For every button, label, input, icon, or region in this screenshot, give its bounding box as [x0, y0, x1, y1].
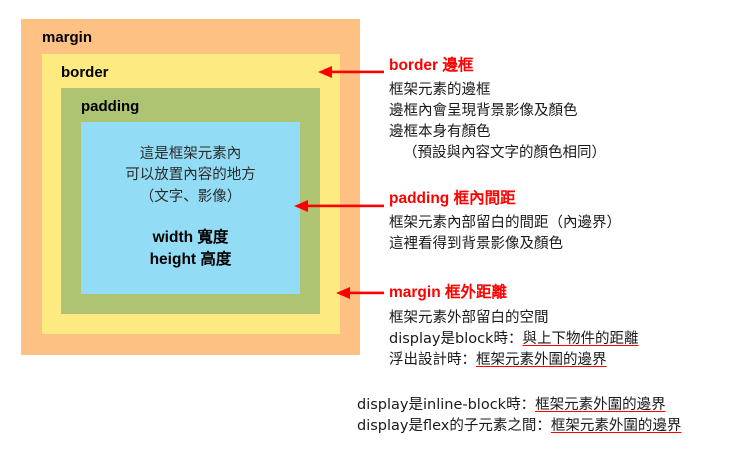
annotation-border: border 邊框 框架元素的邊框 邊框內會呈現背景影像及顏色 邊框本身有顏色 … — [389, 57, 606, 164]
annotation-margin-line-2: display是block時：與上下物件的距離 — [389, 329, 638, 350]
annotation-padding-body: 框架元素內部留白的間距（內邊界） 這裡看得到背景影像及顏色 — [389, 213, 621, 255]
annotation-extra-line-1-prefix: display是inline-block時： — [357, 397, 535, 413]
annotation-margin-line-3-prefix: 浮出設計時： — [389, 352, 476, 368]
annotation-border-title: border 邊框 — [389, 57, 606, 75]
annotation-border-line-2: 邊框內會呈現背景影像及顏色 — [389, 101, 606, 122]
annotation-extra-line-1: display是inline-block時：框架元素外圍的邊界 — [357, 395, 681, 416]
annotation-margin-title: margin 框外距離 — [389, 284, 638, 302]
annotation-margin-extra: display是inline-block時：框架元素外圍的邊界 display是… — [357, 395, 681, 437]
annotation-padding: padding 框內間距 框架元素內部留白的間距（內邊界） 這裡看得到背景影像及… — [389, 190, 621, 255]
annotation-extra-line-1-emphasis: 框架元素外圍的邊界 — [535, 397, 666, 413]
annotation-margin-line-2-prefix: display是block時： — [389, 331, 522, 347]
annotation-border-line-3: 邊框本身有顏色 — [389, 122, 606, 143]
annotation-padding-line-2: 這裡看得到背景影像及顏色 — [389, 234, 621, 255]
content-description-line-3: （文字、影像） — [81, 187, 300, 208]
padding-box: padding 這是框架元素內 可以放置內容的地方 （文字、影像） width … — [61, 88, 320, 314]
content-height-label: height 高度 — [81, 249, 300, 271]
annotation-extra-line-2-prefix: display是flex的子元素之間： — [357, 418, 551, 434]
box-model-diagram: margin border padding 這是框架元素內 可以放置內容的地方 … — [21, 19, 360, 355]
content-description-line-2: 可以放置內容的地方 — [81, 165, 300, 186]
annotation-border-body: 框架元素的邊框 邊框內會呈現背景影像及顏色 邊框本身有顏色 （預設與內容文字的顏… — [389, 80, 606, 164]
annotation-extra-line-2: display是flex的子元素之間：框架元素外圍的邊界 — [357, 416, 681, 437]
content-box-description: 這是框架元素內 可以放置內容的地方 （文字、影像） — [81, 144, 300, 208]
padding-box-label: padding — [81, 99, 139, 114]
annotation-margin-line-3-emphasis: 框架元素外圍的邊界 — [476, 352, 607, 368]
content-box-dimensions: width 寬度 height 高度 — [81, 227, 300, 271]
annotation-margin-line-2-emphasis: 與上下物件的距離 — [522, 331, 638, 347]
content-box: 這是框架元素內 可以放置內容的地方 （文字、影像） width 寬度 heigh… — [81, 122, 300, 294]
border-arrow-left-icon — [318, 65, 384, 79]
margin-box-label: margin — [42, 30, 92, 45]
annotation-margin-body: 框架元素外部留白的空間 display是block時：與上下物件的距離 浮出設計… — [389, 308, 638, 371]
annotation-border-line-4: （預設與內容文字的顏色相同） — [389, 143, 606, 164]
annotation-extra-line-2-emphasis: 框架元素外圍的邊界 — [551, 418, 682, 434]
content-description-line-1: 這是框架元素內 — [81, 144, 300, 165]
annotation-margin: margin 框外距離 框架元素外部留白的空間 display是block時：與… — [389, 284, 638, 371]
annotation-margin-line-3: 浮出設計時：框架元素外圍的邊界 — [389, 350, 638, 371]
annotation-border-line-1: 框架元素的邊框 — [389, 80, 606, 101]
annotation-padding-title: padding 框內間距 — [389, 190, 621, 208]
annotation-padding-line-1: 框架元素內部留白的間距（內邊界） — [389, 213, 621, 234]
content-width-label: width 寬度 — [81, 227, 300, 249]
padding-arrow-left-icon — [294, 199, 384, 213]
annotation-margin-line-1: 框架元素外部留白的空間 — [389, 308, 638, 329]
margin-arrow-left-icon — [336, 286, 384, 300]
margin-box: margin border padding 這是框架元素內 可以放置內容的地方 … — [21, 19, 360, 355]
border-box: border padding 這是框架元素內 可以放置內容的地方 （文字、影像）… — [42, 54, 340, 334]
border-box-label: border — [61, 65, 109, 80]
